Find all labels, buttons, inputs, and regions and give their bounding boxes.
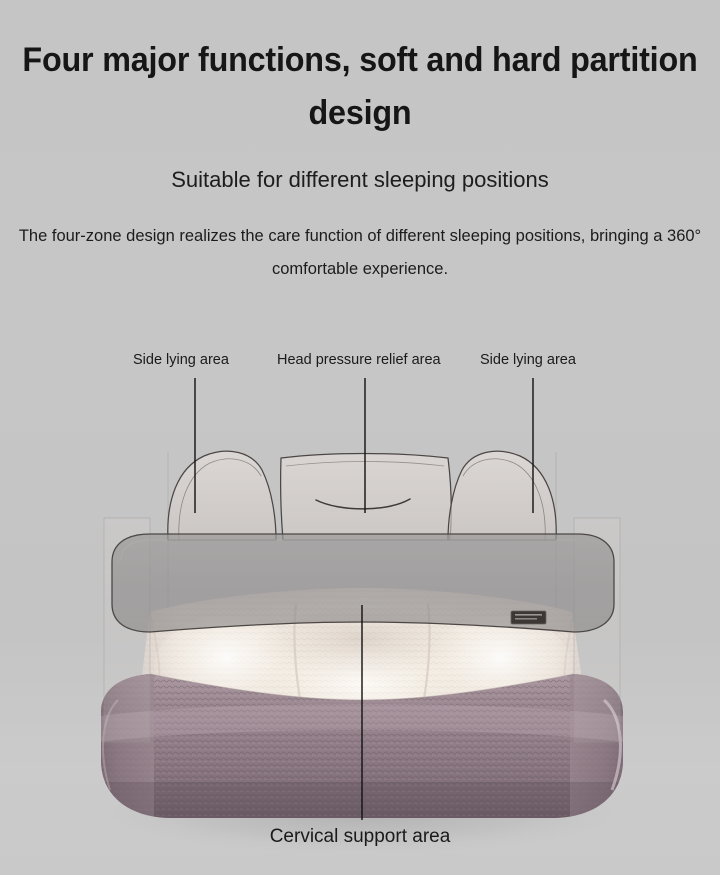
page-subtitle: Suitable for different sleeping position… <box>0 140 720 194</box>
callout-label-head-pressure-relief: Head pressure relief area <box>277 352 441 368</box>
page-description: The four-zone design realizes the care f… <box>0 194 720 286</box>
zone-head-pressure-relief[interactable] <box>281 454 452 541</box>
callout-label-side-lying-left: Side lying area <box>133 352 229 368</box>
zone-side-lying-left[interactable] <box>168 451 276 541</box>
zone-side-lying-right[interactable] <box>448 451 556 541</box>
text-block: Four major functions, soft and hard part… <box>0 0 720 286</box>
page-title: Four major functions, soft and hard part… <box>18 0 702 140</box>
callout-label-cervical-support: Cervical support area <box>0 826 720 848</box>
infographic-page: Four major functions, soft and hard part… <box>0 0 720 875</box>
callout-label-side-lying-right: Side lying area <box>480 352 576 368</box>
brand-tag <box>511 611 546 624</box>
